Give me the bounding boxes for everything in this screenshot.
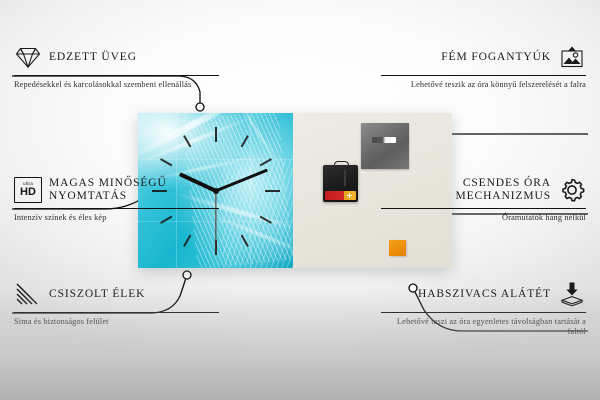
feature-title: EDZETT ÜVEG (49, 51, 137, 64)
feature-subtitle: Óramutatók hang nélkül (381, 213, 586, 223)
foam-spacer-pad (389, 240, 406, 256)
feature-header: CSENDES ÓRA MECHANIZMUS (381, 175, 586, 205)
feature-divider (381, 75, 586, 76)
quartz-movement (323, 165, 358, 202)
clock-tick (216, 190, 280, 192)
feature-title: MAGAS MINŐSÉGŰ NYOMTATÁS (49, 177, 219, 202)
infographic-canvas: EDZETT ÜVEG Repedésekkel és karcolásokka… (0, 0, 600, 400)
leader-dot-polished-edges (183, 271, 191, 279)
picture-hanger-icon (558, 43, 586, 71)
feature-polished-edges: CSISZOLT ÉLEK Sima és biztonságos felüle… (14, 279, 219, 327)
ultra-hd-badge-icon: ultra HD (14, 176, 42, 204)
hanger-slot (372, 137, 396, 143)
feature-subtitle: Repedésekkel és karcolásokkal szembeni e… (14, 80, 219, 90)
feature-metal-handles: FÉM FOGANTYÚK Lehetővé teszik az óra kön… (381, 42, 586, 90)
feature-title: CSENDES ÓRA MECHANIZMUS (381, 177, 551, 202)
feature-header: EDZETT ÜVEG (14, 42, 219, 72)
feature-header: CSISZOLT ÉLEK (14, 279, 219, 309)
feature-subtitle: Sima és biztonságos felület (14, 317, 219, 327)
feature-subtitle: Lehetővé teszik az óra könnyű felszerelé… (381, 80, 586, 90)
feature-header: FÉM FOGANTYÚK (381, 42, 586, 72)
hd-badge-hd-label: HD (20, 187, 36, 198)
press-down-pad-icon (558, 280, 586, 308)
diamond-icon (14, 43, 42, 71)
hd-badge: ultra HD (14, 177, 42, 203)
feature-header: HABSZIVACS ALÁTÉT (381, 279, 586, 309)
battery-label (325, 191, 356, 200)
feature-divider (14, 75, 219, 76)
feature-silent-mechanism: CSENDES ÓRA MECHANIZMUS Óramutatók hang … (381, 175, 586, 223)
metal-hanger-plate (361, 123, 409, 169)
feature-subtitle: Lehetővé teszi az óra egyenletes távolsá… (381, 317, 586, 338)
polished-edge-icon (14, 280, 42, 308)
gear-icon (558, 176, 586, 204)
feature-title: FÉM FOGANTYÚK (441, 51, 551, 64)
feature-divider (14, 312, 219, 313)
feature-subtitle: Intenzív színek és éles kép (14, 213, 219, 223)
feature-tempered-glass: EDZETT ÜVEG Repedésekkel és karcolásokka… (14, 42, 219, 90)
feature-foam-pad: HABSZIVACS ALÁTÉT Lehetővé teszi az óra … (381, 279, 586, 338)
movement-hanger-lug (334, 161, 349, 168)
feature-divider (14, 208, 219, 209)
feature-title: CSISZOLT ÉLEK (49, 288, 145, 301)
feature-divider (381, 312, 586, 313)
leader-dot-tempered-glass (196, 103, 204, 111)
feature-high-quality-print: ultra HD MAGAS MINŐSÉGŰ NYOMTATÁS Intenz… (14, 175, 219, 223)
feature-title: HABSZIVACS ALÁTÉT (418, 288, 551, 301)
feature-divider (381, 208, 586, 209)
feature-header: ultra HD MAGAS MINŐSÉGŰ NYOMTATÁS (14, 175, 219, 205)
movement-seam (344, 170, 346, 186)
